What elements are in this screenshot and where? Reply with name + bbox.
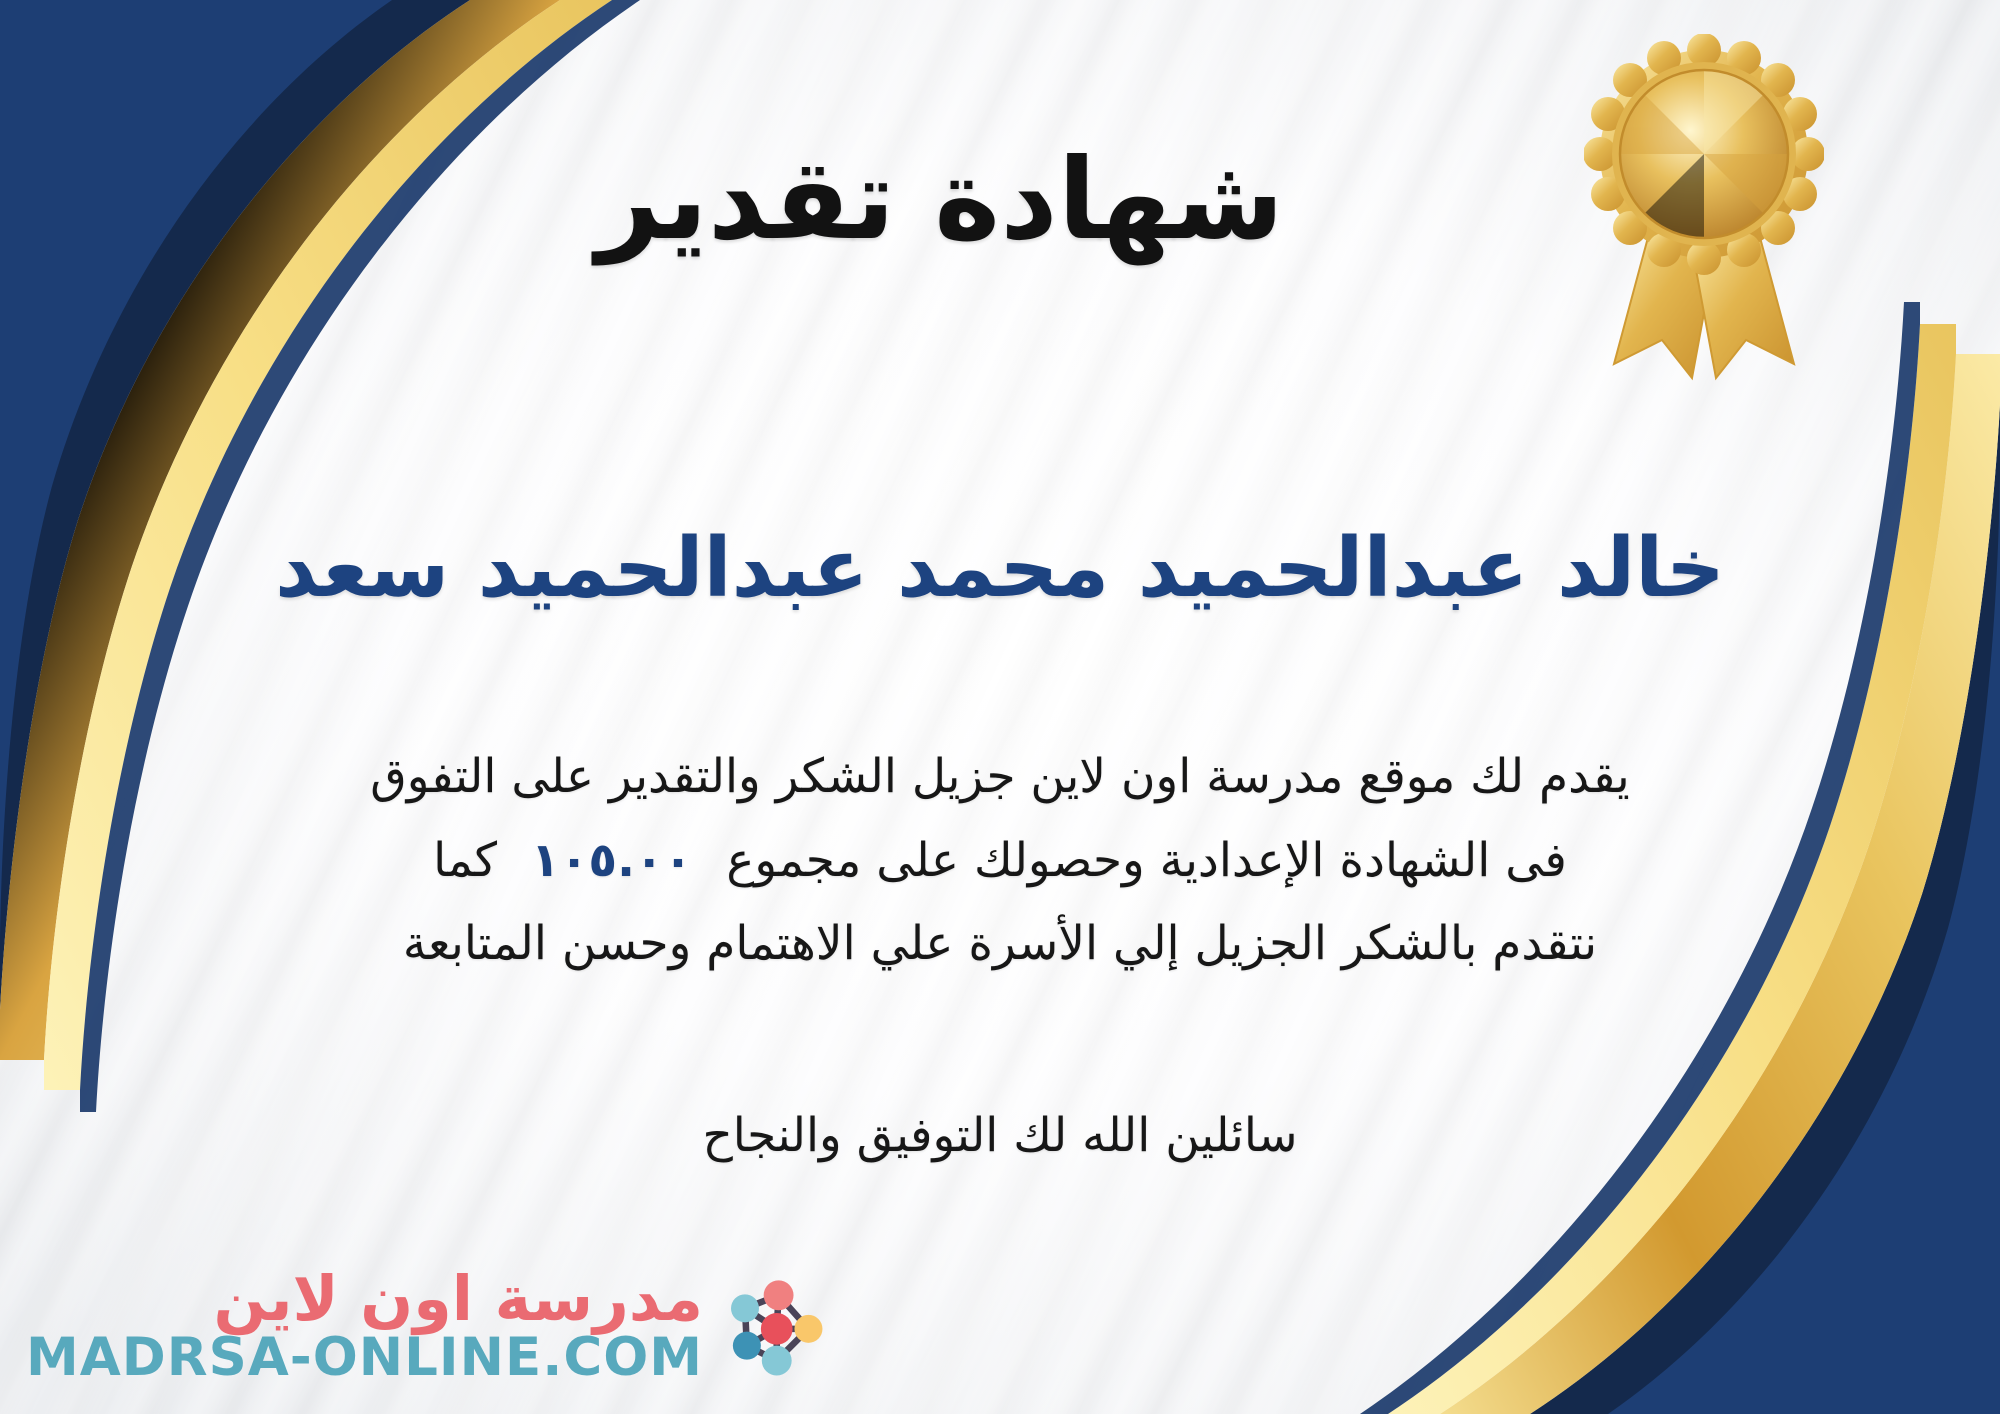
certificate-canvas: شهادة تقدير خالد عبدالحميد محمد عبدالحمي… [0,0,2000,1414]
body-line-2-suffix: كما [433,833,497,888]
brand-website: MADRSA-ONLINE.COM [26,1330,703,1386]
recipient-name: خالد عبدالحميد محمد عبدالحميد سعد [0,520,2000,618]
body-line-2: فى الشهادة الإعدادية وحصولك على مجموع١٠٥… [120,819,1880,903]
brand-arabic-name: مدرسة اون لاين [26,1267,703,1330]
body-line-3: نتقدم بالشكر الجزيل إلي الأسرة علي الاهت… [120,902,1880,986]
body-line-1: يقدم لك موقع مدرسة اون لاين جزيل الشكر و… [120,735,1880,819]
brand-logo[interactable]: مدرسة اون لاين MADRSA-ONLINE.COM [26,1267,829,1386]
score-value: ١٠٥.٠٠ [497,833,726,888]
body-line-2-prefix: فى الشهادة الإعدادية وحصولك على مجموع [726,833,1567,888]
page-title: شهادة تقدير [0,138,2000,263]
network-graph-icon [717,1271,829,1383]
closing-line: سائلين الله لك التوفيق والنجاح [120,1098,1880,1173]
certificate-body: يقدم لك موقع مدرسة اون لاين جزيل الشكر و… [120,735,1880,986]
